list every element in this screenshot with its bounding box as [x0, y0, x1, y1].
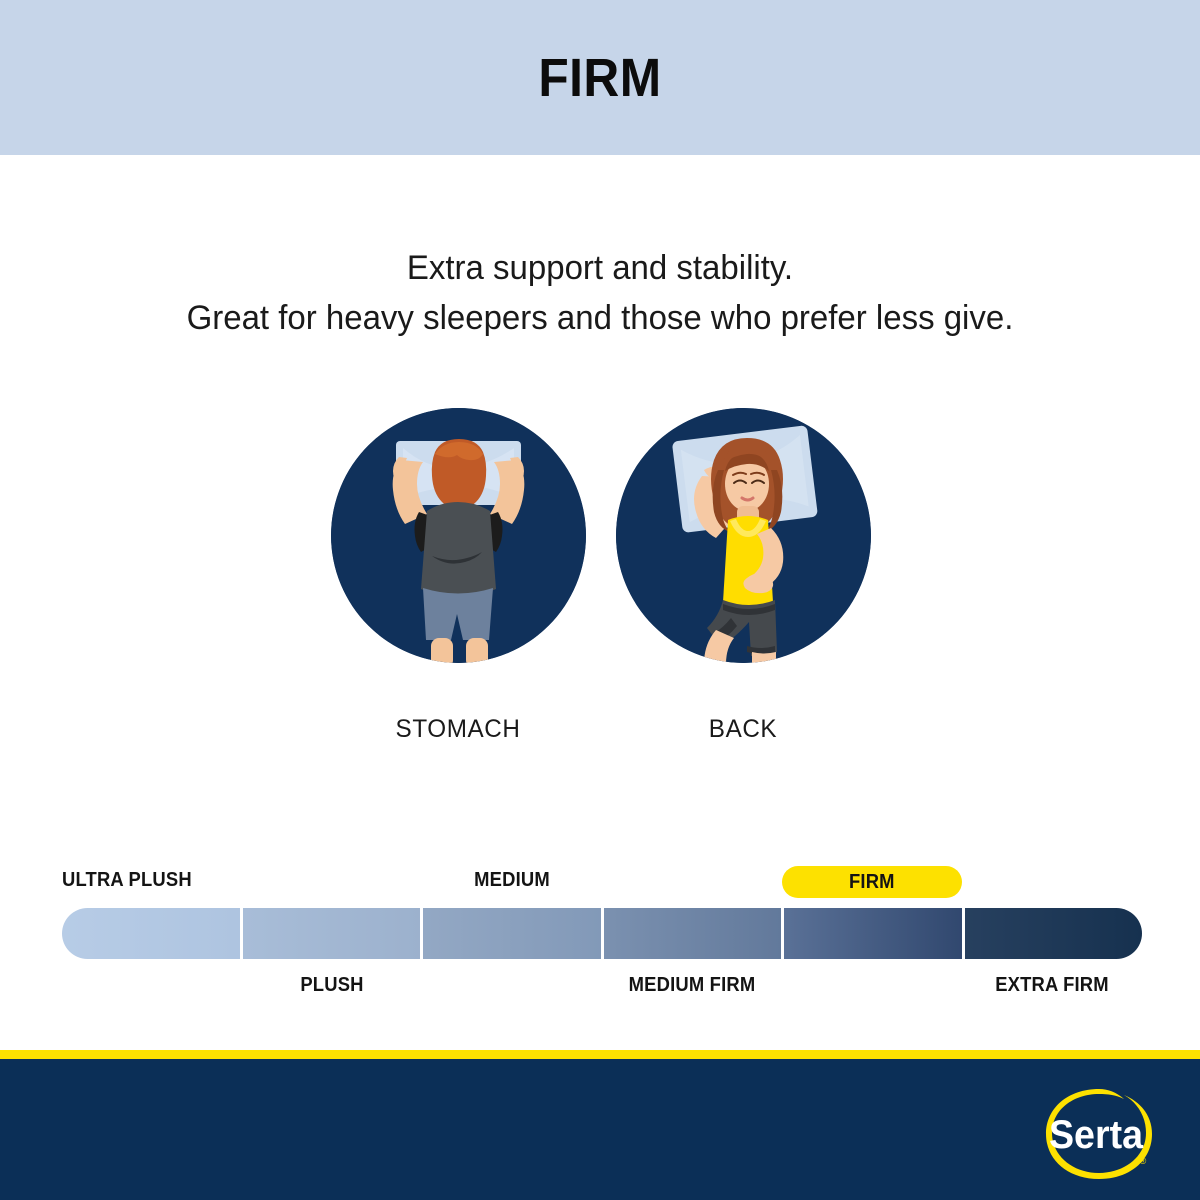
firmness-label-firm-selected[interactable]: FIRM — [782, 866, 962, 898]
sleep-position-row: STOMACH — [0, 408, 1200, 748]
page-title: FIRM — [538, 51, 661, 105]
sleep-position-label-stomach: STOMACH — [332, 715, 584, 744]
firmness-segment-medium-firm[interactable] — [604, 908, 785, 959]
firmness-label-medium[interactable]: MEDIUM — [429, 862, 595, 898]
stomach-sleeper-icon — [331, 408, 586, 663]
firmness-segment-extra-firm[interactable] — [965, 908, 1143, 959]
serta-wordmark: Serta — [1049, 1113, 1143, 1157]
firmness-segment-firm[interactable] — [784, 908, 965, 959]
back-sleeper-icon — [616, 408, 871, 663]
firmness-scale: ULTRA PLUSH MEDIUM FIRM PLUSH MEDIUM FIR… — [62, 862, 1142, 1002]
footer-accent-stripe — [0, 1050, 1200, 1059]
sleep-position-stomach: STOMACH — [328, 408, 588, 744]
firmness-label-extra-firm[interactable]: EXTRA FIRM — [969, 968, 1135, 1002]
firmness-label-medium-firm[interactable]: MEDIUM FIRM — [609, 968, 775, 1002]
firmness-scale-bar — [62, 908, 1142, 959]
firmness-segment-ultra-plush[interactable] — [62, 908, 243, 959]
firmness-segment-plush[interactable] — [243, 908, 424, 959]
serta-logo[interactable]: Serta ® — [1038, 1082, 1160, 1186]
registered-trademark-icon: ® — [1140, 1156, 1147, 1166]
subtitle-line-2: Great for heavy sleepers and those who p… — [18, 293, 1182, 343]
poster-canvas: FIRM Extra support and stability. Great … — [0, 0, 1200, 1200]
firmness-label-ultra-plush[interactable]: ULTRA PLUSH — [62, 862, 228, 898]
firmness-label-firm-text: FIRM — [849, 866, 895, 898]
footer-band — [0, 1059, 1200, 1200]
subtitle-line-1: Extra support and stability. — [18, 243, 1182, 293]
sleep-position-back: BACK — [613, 408, 873, 744]
header-band: FIRM — [0, 0, 1200, 155]
firmness-segment-medium[interactable] — [423, 908, 604, 959]
sleep-position-label-back: BACK — [617, 715, 869, 744]
firmness-label-plush[interactable]: PLUSH — [249, 968, 415, 1002]
subtitle-block: Extra support and stability. Great for h… — [18, 243, 1182, 343]
